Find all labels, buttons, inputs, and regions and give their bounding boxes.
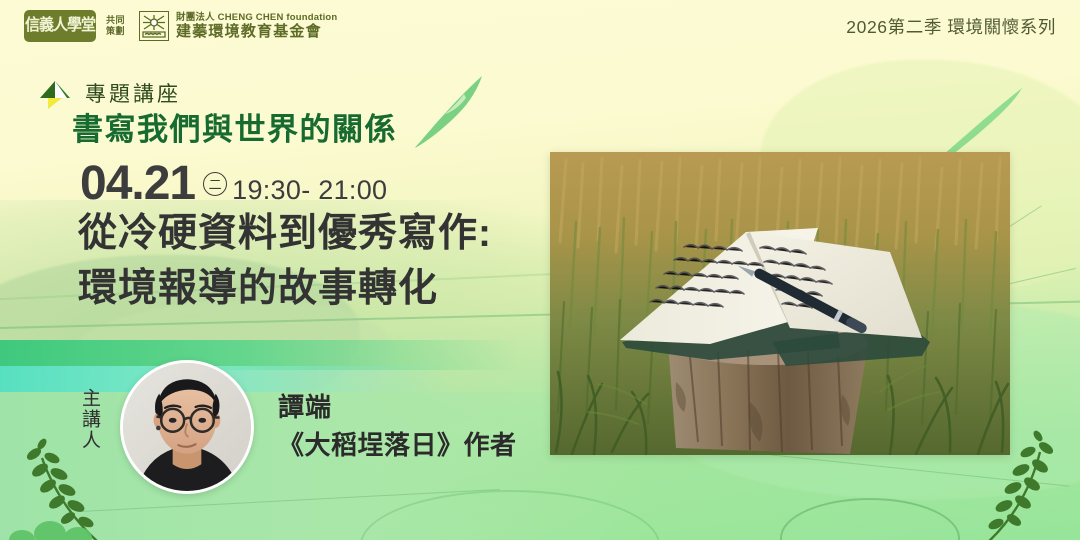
xinyi-academy-logo: 信義人學堂 [24,10,96,42]
cooperate-label-line1: 共同 [106,15,125,26]
circled-weekday-icon: 二 [203,172,227,196]
foundation-emblem-icon [139,11,169,41]
cooperate-label: 共同 策劃 [106,15,125,37]
speaker-label: 主講人 [70,388,100,451]
event-main-title: 從冷硬資料到優秀寫作: 環境報導的故事轉化 [78,206,548,317]
event-date: 04.21 [80,160,195,208]
speaker-info: 譚端 《大稻埕落日》作者 [278,391,517,462]
foundation-name-en: 財團法人 CHENG CHEN foundation [176,13,337,23]
event-time: 19:30- 21:00 [232,177,387,204]
schedule-row: 04.21 二 19:30- 21:00 [80,160,387,208]
event-main-title-line1: 從冷硬資料到優秀寫作: [78,206,548,261]
feather-leaf-ornament [412,72,486,150]
poster-canvas: 信義人學堂 共同 策劃 [0,0,1080,540]
foundation-text: 財團法人 CHENG CHEN foundation 建蓁環境教育基金會 [176,13,337,40]
speaker-credential: 《大稻埕落日》作者 [278,429,517,463]
foundation-name-cn: 建蓁環境教育基金會 [176,24,337,40]
triangle-accent-icon [36,76,74,110]
foundation-logo: 財團法人 CHENG CHEN foundation 建蓁環境教育基金會 [139,11,337,41]
lecture-series-title: 書寫我們與世界的關係 [72,104,397,149]
xinyi-academy-logo-text: 信義人學堂 [25,18,95,34]
speaker-name: 譚端 [278,391,517,424]
cooperate-label-line2: 策劃 [106,26,125,37]
logo-group: 信義人學堂 共同 策劃 [24,10,337,42]
event-main-title-line2: 環境報導的故事轉化 [78,261,548,316]
event-photo [550,152,1010,455]
poster-header: 信義人學堂 共同 策劃 [0,0,1080,52]
speaker-avatar [120,360,254,494]
season-label: 2026第二季 環境關懷系列 [846,14,1056,39]
